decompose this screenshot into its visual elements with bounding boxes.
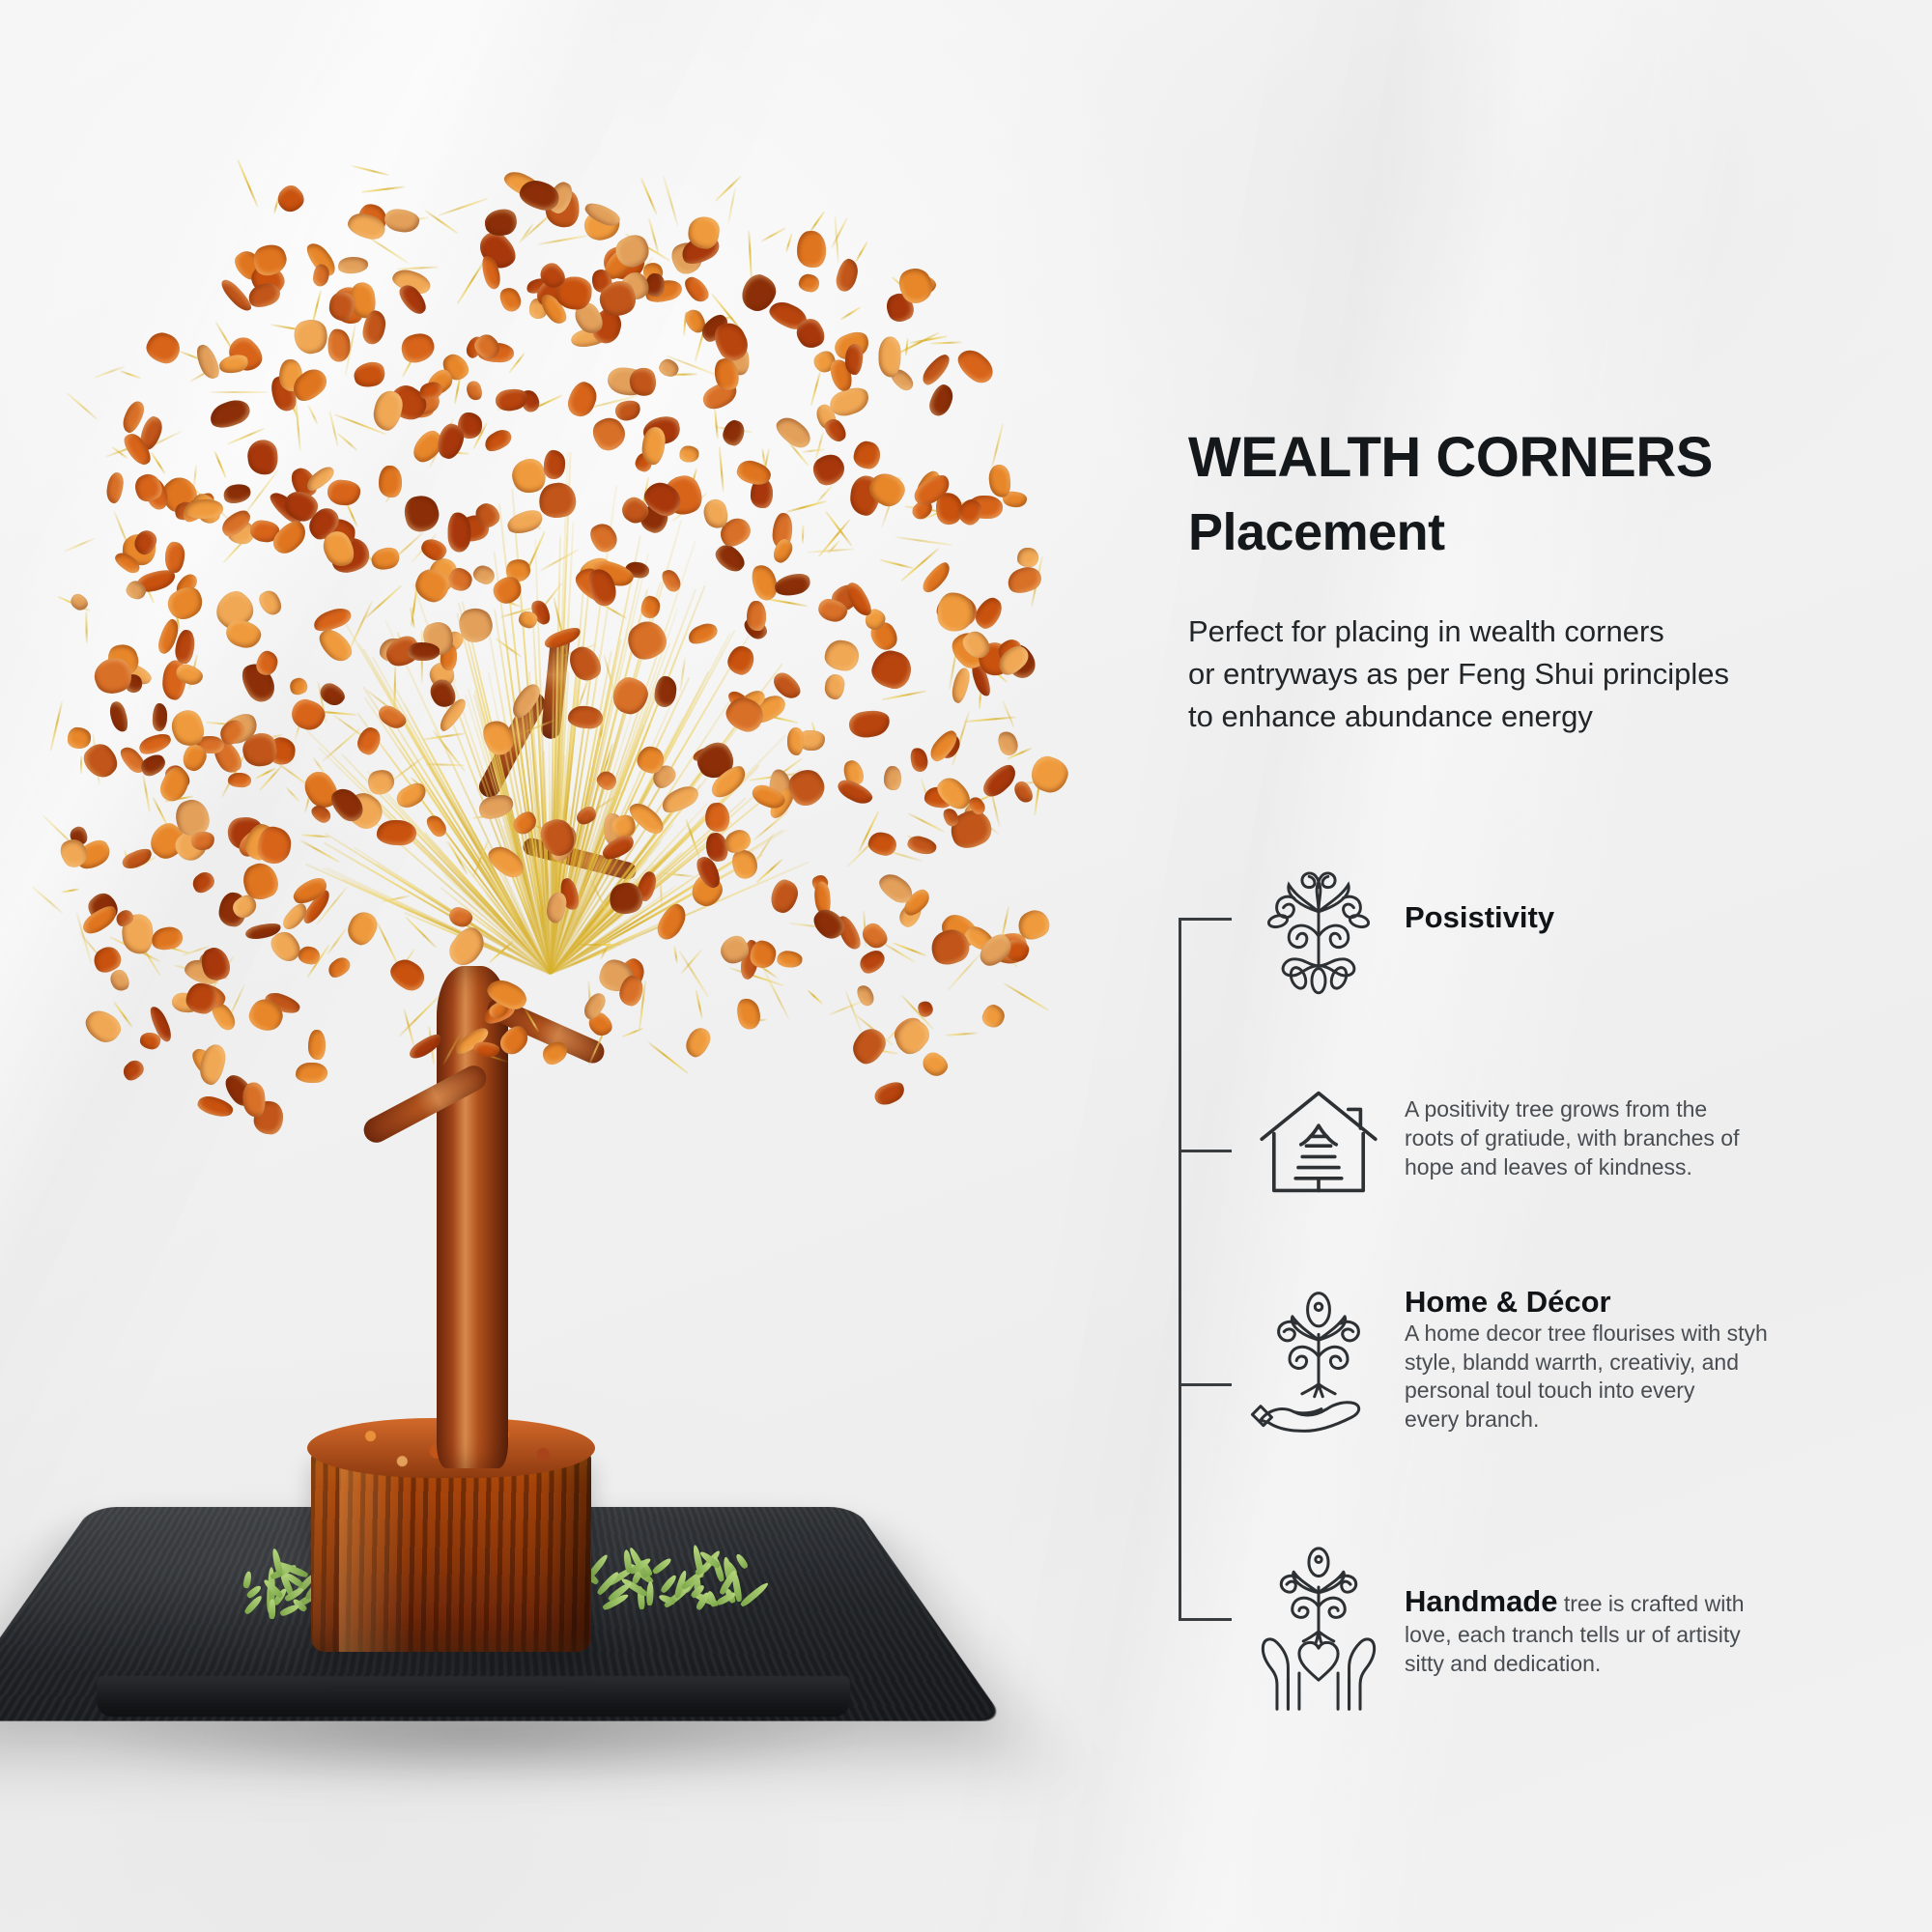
bracket-tick-2 <box>1181 1150 1232 1152</box>
feature-text-home-decor: A home decor tree flourises with styh st… <box>1405 1320 1768 1435</box>
feature-body-handmade: Handmade tree is crafted with love, each… <box>1391 1546 1745 1679</box>
feature-title-handmade: Handmade <box>1405 1584 1557 1618</box>
handmade-line-3: sitty and dedication. <box>1405 1650 1745 1679</box>
handmade-inline-tail: tree is crafted with <box>1557 1591 1744 1616</box>
feature-body-home-decor: Home & Décor A home decor tree flourises… <box>1391 1285 1768 1435</box>
house-text-line-3: hope and leaves of kindness. <box>1405 1153 1739 1182</box>
bracket-tick-1 <box>1181 918 1232 921</box>
feature-item-house[interactable]: A positivity tree grows from the roots o… <box>1246 1074 1739 1209</box>
page-title: WEALTH CORNERS <box>1188 425 1713 490</box>
feature-item-handmade[interactable]: Handmade tree is crafted with love, each… <box>1246 1546 1745 1715</box>
house-with-tree-icon <box>1246 1074 1391 1209</box>
intro-line-3: to enhance abundance energy <box>1188 696 1922 738</box>
home-decor-line-2: style, blandd warrth, creativiy, and <box>1405 1349 1768 1378</box>
feature-body-positivity: Posistivity <box>1391 850 1554 935</box>
ornate-filigree-tree-icon <box>1246 850 1391 995</box>
home-decor-line-1: A home decor tree flourises with styh <box>1405 1320 1768 1349</box>
feature-bracket <box>1179 918 1233 1621</box>
crystal-foliage-crown <box>58 174 1043 1198</box>
home-decor-line-4: every branch. <box>1405 1406 1768 1435</box>
feature-body-house: A positivity tree grows from the roots o… <box>1391 1074 1739 1182</box>
bark-pot <box>311 1449 591 1652</box>
feature-title-home-decor: Home & Décor <box>1405 1285 1768 1320</box>
tree-on-open-hand-icon <box>1246 1285 1391 1439</box>
house-text-line-2: roots of gratiude, with branches of <box>1405 1124 1739 1153</box>
intro-line-1: Perfect for placing in wealth corners <box>1188 611 1922 653</box>
bracket-tick-3 <box>1181 1383 1232 1386</box>
home-decor-line-3: personal toul touch into every <box>1405 1377 1768 1406</box>
feature-item-home-decor[interactable]: Home & Décor A home decor tree flourises… <box>1246 1285 1768 1439</box>
feature-item-positivity[interactable]: Posistivity <box>1246 850 1554 995</box>
hands-holding-heart-tree-icon <box>1246 1546 1391 1715</box>
intro-line-2: or entryways as per Feng Shui principles <box>1188 653 1922 696</box>
feature-title-positivity: Posistivity <box>1405 850 1554 935</box>
product-photo <box>0 0 1101 1932</box>
feature-text-handmade: Handmade tree is crafted with love, each… <box>1405 1546 1745 1679</box>
page-subtitle: Placement <box>1188 502 1445 562</box>
bracket-tick-4 <box>1181 1618 1232 1621</box>
feature-text-house: A positivity tree grows from the roots o… <box>1405 1074 1739 1182</box>
intro-paragraph: Perfect for placing in wealth corners or… <box>1188 611 1922 738</box>
info-panel: WEALTH CORNERS Placement Perfect for pla… <box>1111 0 1932 1932</box>
slate-plate-edge <box>97 1676 850 1717</box>
house-text-line-1: A positivity tree grows from the <box>1405 1095 1739 1124</box>
handmade-line-2: love, each tranch tells ur of artisity <box>1405 1621 1745 1650</box>
